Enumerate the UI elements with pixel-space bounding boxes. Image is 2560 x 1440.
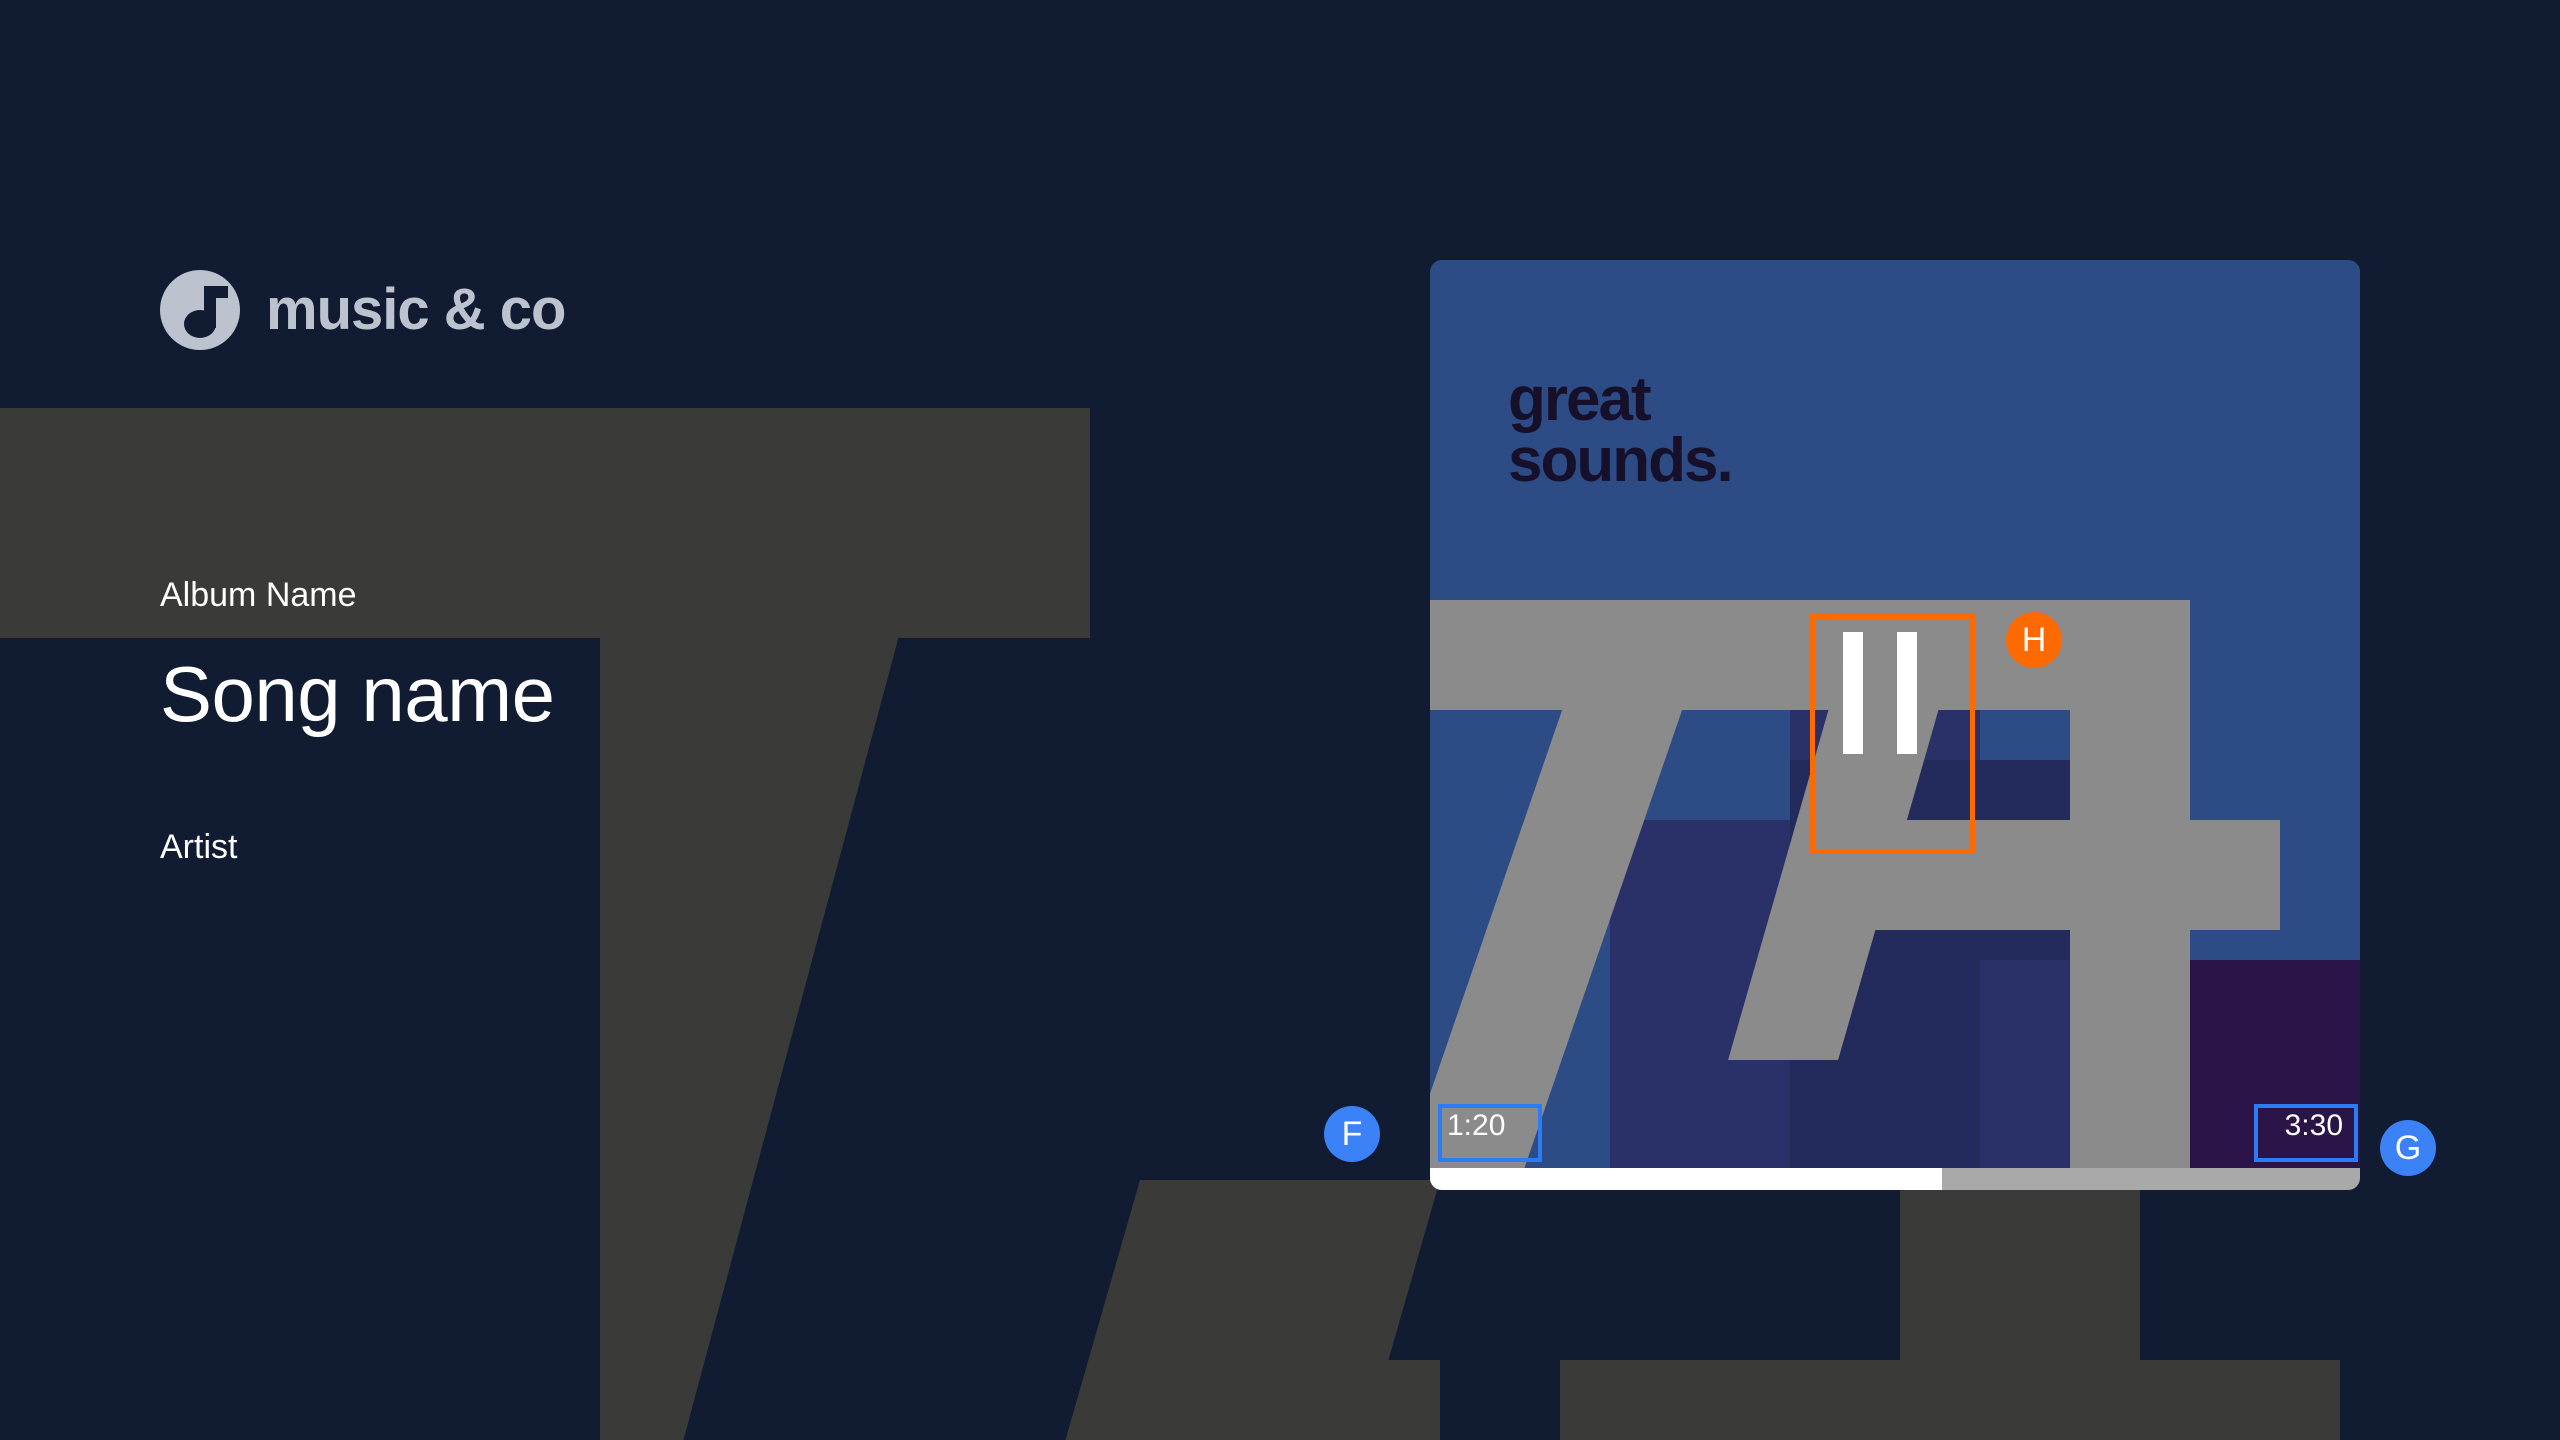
elapsed-time-label: 1:20 [1440,1106,1512,1146]
watermark-cut-far-right [2340,1180,2560,1440]
music-note-icon [160,270,240,350]
progress-bar[interactable] [1430,1168,2360,1190]
song-name-label: Song name [160,652,554,738]
album-name-label: Album Name [160,578,357,612]
progress-bar-fill [1430,1168,1942,1190]
watermark-cut-upper [1000,638,1430,1180]
background-watermark-4-stem [1900,1180,2140,1440]
watermark-cut-left [0,638,600,1440]
player-screen: music & co Album Name Song name Artist [0,0,2560,1440]
album-art-title: great sounds. [1508,370,1732,492]
annotation-badge-H: H [2006,612,2062,668]
album-art-card[interactable]: great sounds. 1:20 3:30 [1430,260,2360,1190]
background-watermark-4-crossbar [1160,1360,2340,1440]
pause-icon-bar-right [1897,632,1917,754]
artist-name-label: Artist [160,830,237,864]
total-time-label: 3:30 [2278,1106,2350,1146]
annotation-badge-F: F [1324,1106,1380,1162]
pause-button[interactable] [1825,618,1935,768]
watermark-cut-4-left [1440,1180,1560,1440]
brand-name-label: music & co [266,281,565,339]
annotation-badge-G: G [2380,1120,2436,1176]
pause-icon-bar-left [1843,632,1863,754]
brand-logo[interactable]: music & co [160,270,565,350]
